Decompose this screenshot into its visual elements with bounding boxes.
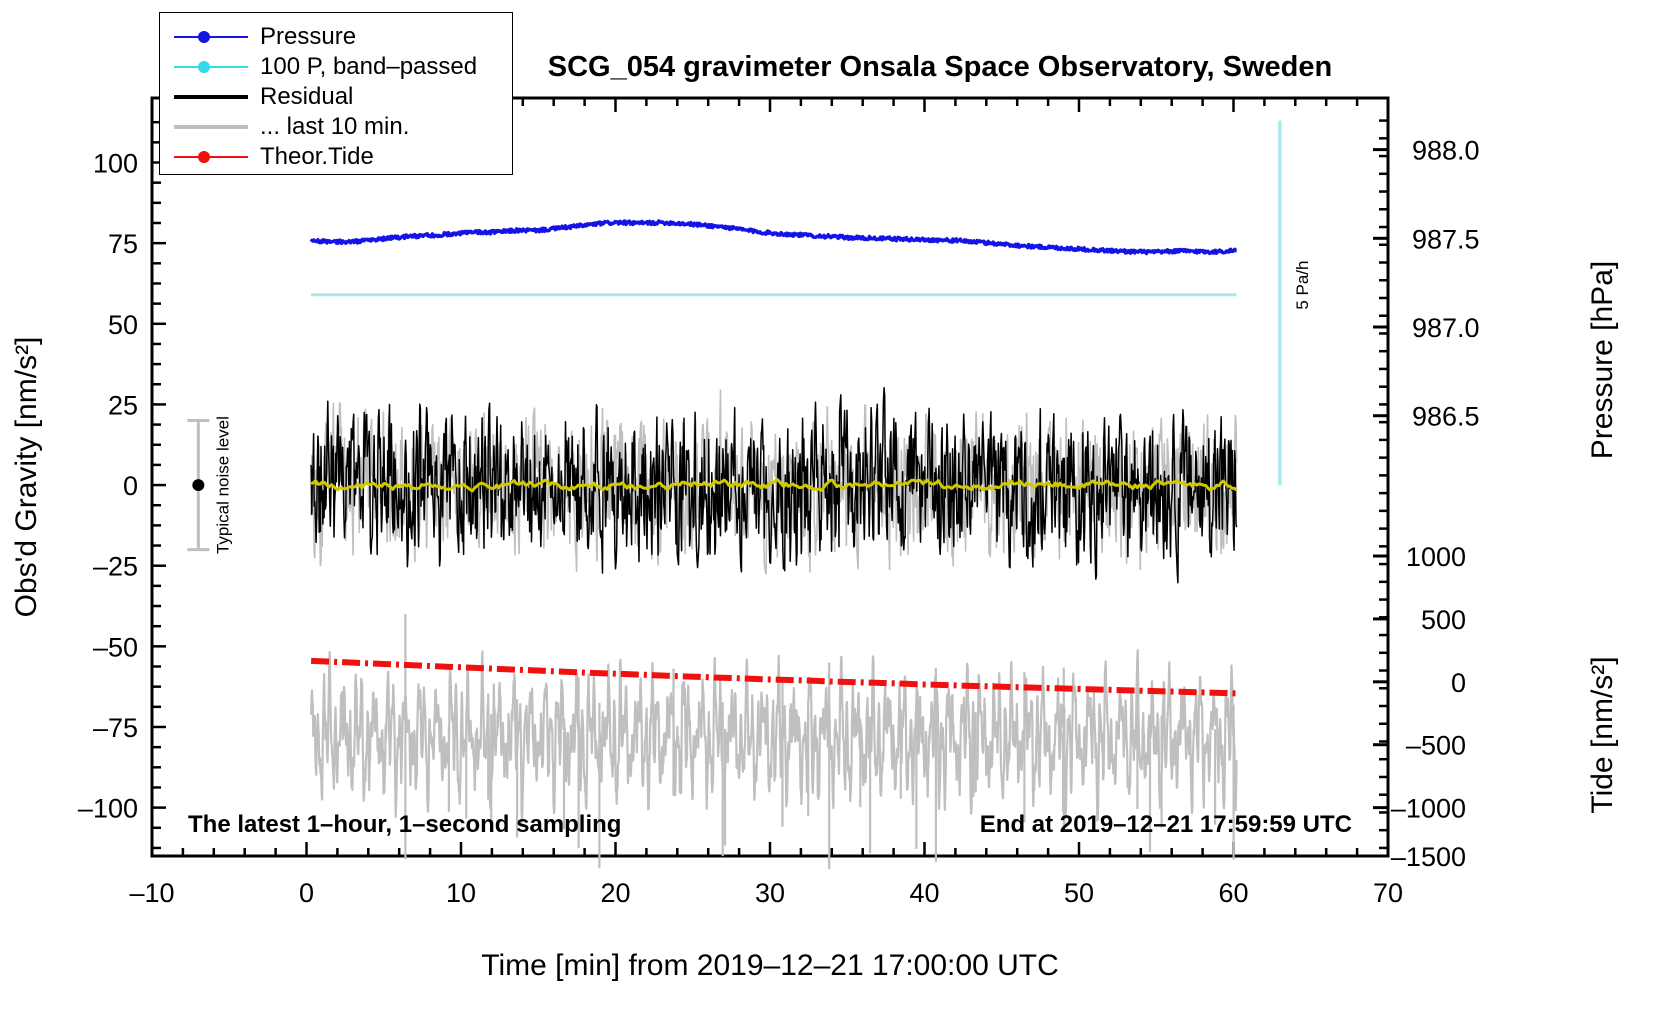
- pressure-scalebar-label: 5 Pa/h: [1293, 261, 1312, 310]
- y-tick-label: 0: [123, 471, 138, 501]
- legend-item: Pressure: [160, 22, 512, 52]
- legend-swatch: [174, 57, 248, 77]
- legend-swatch: [174, 27, 248, 47]
- x-tick-label: 10: [446, 878, 476, 908]
- tide-tick-label: –500: [1406, 731, 1466, 761]
- tide-tick-label: 1000: [1406, 542, 1466, 572]
- y-axis-title: Obs'd Gravity [nm/s²]: [10, 337, 43, 618]
- legend-label: 100 P, band–passed: [260, 55, 477, 79]
- legend-item: Residual: [160, 82, 512, 112]
- series-pressure: [311, 221, 1237, 254]
- tide-tick-label: –1500: [1391, 842, 1466, 872]
- pressure-tick-label: 987.5: [1412, 224, 1480, 254]
- x-tick-label: 50: [1064, 878, 1094, 908]
- y-tick-label: –100: [78, 794, 138, 824]
- tide-tick-label: 0: [1451, 668, 1466, 698]
- pressure-tick-label: 988.0: [1412, 136, 1480, 166]
- legend-label: Pressure: [260, 25, 356, 49]
- pressure-tick-label: 986.5: [1412, 402, 1480, 432]
- legend-item: 100 P, band–passed: [160, 52, 512, 82]
- y-tick-label: 75: [108, 229, 138, 259]
- y-tick-label: 100: [93, 149, 138, 179]
- y-tick-label: 25: [108, 390, 138, 420]
- tide-axis-title: Tide [nm/s²]: [1586, 656, 1619, 813]
- y-tick-label: –25: [93, 552, 138, 582]
- series-residual: [311, 388, 1237, 583]
- noise-center-dot: [192, 479, 204, 491]
- legend-swatch: [174, 87, 248, 107]
- legend-label: ... last 10 min.: [260, 115, 409, 139]
- legend-swatch: [174, 147, 248, 167]
- x-tick-label: –10: [129, 878, 174, 908]
- end-time-note: End at 2019–12–21 17:59:59 UTC: [980, 811, 1352, 838]
- x-tick-label: 60: [1218, 878, 1248, 908]
- x-tick-label: 30: [755, 878, 785, 908]
- legend-item: ... last 10 min.: [160, 112, 512, 142]
- legend-label: Theor.Tide: [260, 145, 374, 169]
- chart-title: SCG_054 gravimeter Onsala Space Observat…: [548, 51, 1332, 83]
- y-tick-label: –50: [93, 632, 138, 662]
- chart-canvas: –10010203040506070Time [min] from 2019–1…: [0, 0, 1660, 1020]
- x-tick-label: 20: [600, 878, 630, 908]
- chart-legend: Pressure100 P, band–passedResidual... la…: [159, 12, 513, 175]
- noise-level-label: Typical noise level: [213, 416, 232, 554]
- x-axis-title: Time [min] from 2019–12–21 17:00:00 UTC: [481, 949, 1059, 982]
- legend-swatch: [174, 117, 248, 137]
- sampling-note: The latest 1–hour, 1–second sampling: [188, 811, 621, 838]
- x-tick-label: 0: [299, 878, 314, 908]
- y-tick-label: 50: [108, 310, 138, 340]
- pressure-axis-title: Pressure [hPa]: [1586, 261, 1619, 459]
- tide-tick-label: 500: [1421, 605, 1466, 635]
- legend-item: Theor.Tide: [160, 142, 512, 172]
- x-tick-label: 70: [1373, 878, 1403, 908]
- legend-label: Residual: [260, 85, 353, 109]
- pressure-tick-label: 987.0: [1412, 313, 1480, 343]
- tide-tick-label: –1000: [1391, 794, 1466, 824]
- y-tick-label: –75: [93, 713, 138, 743]
- x-tick-label: 40: [909, 878, 939, 908]
